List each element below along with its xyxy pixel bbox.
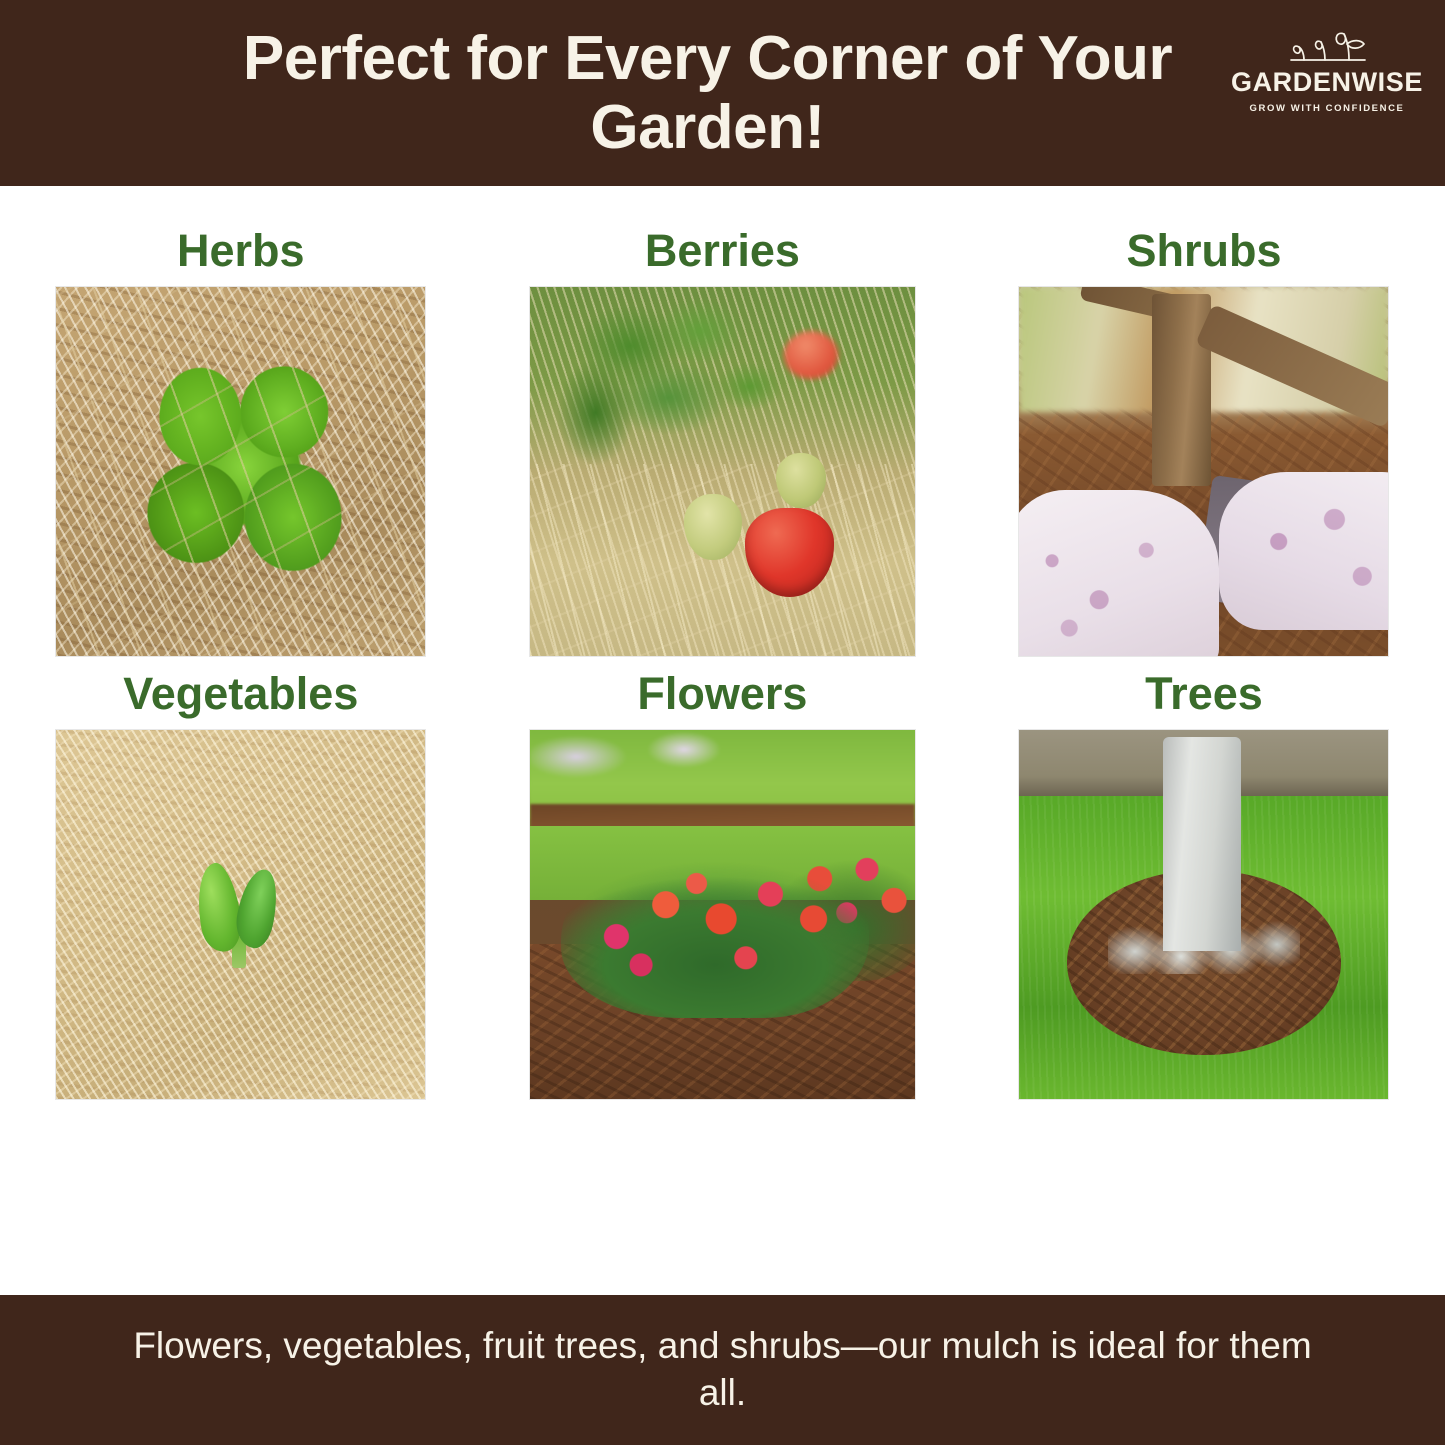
vegetable-seedling xyxy=(197,863,286,966)
category-label-flowers: Flowers xyxy=(637,657,807,729)
whitewashed-tree-trunk xyxy=(1163,737,1240,951)
brand-logo: GARDENWISE GROW WITH CONFIDENCE xyxy=(1227,22,1427,114)
photo-berries xyxy=(529,286,916,657)
category-cell-vegetables: Vegetables xyxy=(0,657,482,1100)
category-label-trees: Trees xyxy=(1145,657,1263,729)
footer-banner: Flowers, vegetables, fruit trees, and sh… xyxy=(0,1295,1445,1445)
page-title: Perfect for Every Corner of Your Garden! xyxy=(208,24,1208,163)
brand-name: GARDENWISE xyxy=(1231,69,1423,96)
straw-overlay xyxy=(530,464,915,656)
category-cell-trees: Trees xyxy=(963,657,1445,1100)
category-grid: Herbs Berries Shrubs xyxy=(0,186,1445,1295)
category-label-vegetables: Vegetables xyxy=(123,657,358,729)
rose-bush-main xyxy=(561,841,869,1018)
grid-row-2: Vegetables Flowers Trees xyxy=(0,657,1445,1100)
gardening-glove-left xyxy=(1018,490,1218,657)
seedling-leaf-right xyxy=(231,866,284,951)
photo-herbs xyxy=(55,286,426,657)
background-strawberry xyxy=(784,331,838,379)
grid-row-1: Herbs Berries Shrubs xyxy=(0,214,1445,657)
photo-flowers xyxy=(529,729,916,1100)
photo-vegetables xyxy=(55,729,426,1100)
photo-trees xyxy=(1018,729,1389,1100)
category-cell-herbs: Herbs xyxy=(0,214,482,657)
category-label-herbs: Herbs xyxy=(177,214,305,286)
category-cell-flowers: Flowers xyxy=(482,657,964,1100)
category-cell-berries: Berries xyxy=(482,214,964,657)
straw-overlay xyxy=(56,287,425,656)
brand-tagline: GROW WITH CONFIDENCE xyxy=(1250,103,1405,114)
gardening-glove-right xyxy=(1219,472,1390,631)
category-label-berries: Berries xyxy=(645,214,800,286)
category-cell-shrubs: Shrubs xyxy=(963,214,1445,657)
three-sprouts-icon xyxy=(1281,22,1373,66)
photo-shrubs xyxy=(1018,286,1389,657)
category-label-shrubs: Shrubs xyxy=(1126,214,1281,286)
shrub-trunk xyxy=(1152,294,1211,486)
footer-caption: Flowers, vegetables, fruit trees, and sh… xyxy=(108,1323,1338,1416)
